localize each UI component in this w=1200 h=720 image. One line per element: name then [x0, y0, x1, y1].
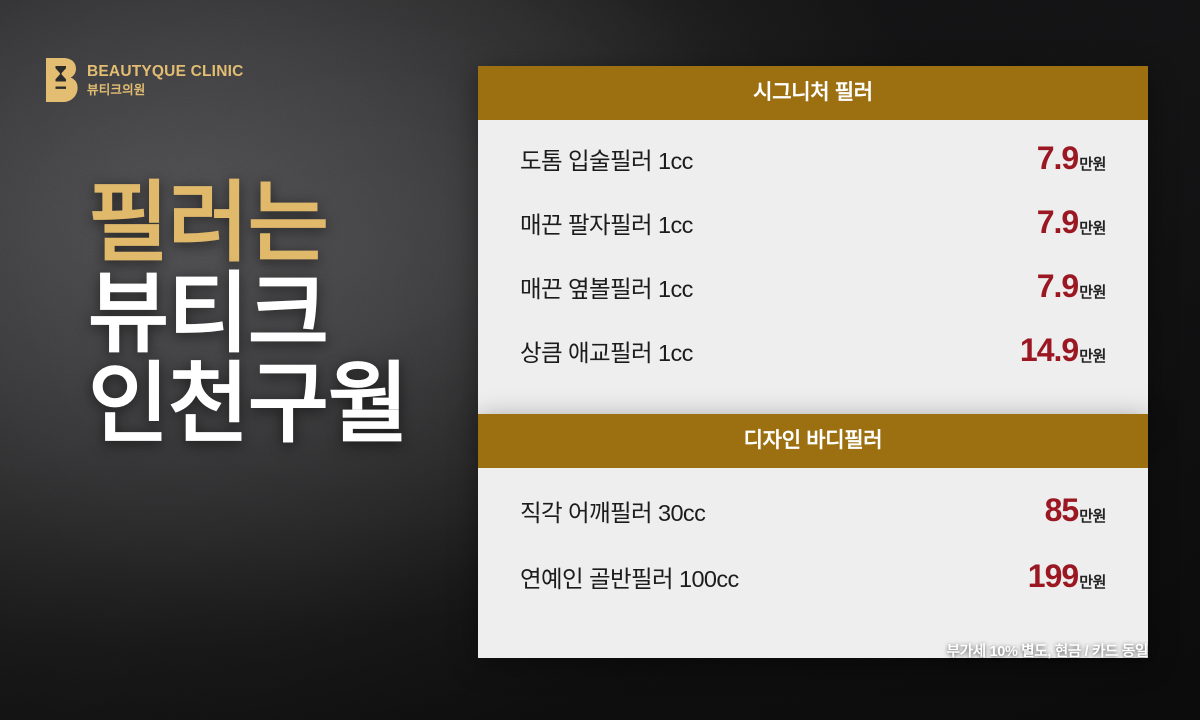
poster-canvas: BEAUTYQUE CLINIC 뷰티크의원 필러는 뷰티크 인천구월 시그니처…	[0, 0, 1200, 720]
price-row: 연예인 골반필러 100cc 199 만원	[520, 558, 1106, 624]
brand-name-en: BEAUTYQUE CLINIC	[87, 64, 243, 80]
price-amount: 7.9	[1037, 268, 1078, 305]
price-row-name: 도톰 입술필러 1cc	[520, 142, 693, 176]
price-row: 상큼 애교필러 1cc 14.9 만원	[520, 332, 1106, 396]
brand-logo: BEAUTYQUE CLINIC 뷰티크의원	[44, 57, 243, 103]
price-panel-signature: 시그니처 필러 도톰 입술필러 1cc 7.9 만원 매끈 팔자필러 1cc 7…	[478, 66, 1148, 422]
price-row-name: 매끈 팔자필러 1cc	[520, 206, 693, 240]
price-row-price: 7.9 만원	[1037, 140, 1106, 177]
price-row-price: 85 만원	[1045, 492, 1106, 529]
price-row-price: 14.9 만원	[1020, 332, 1106, 369]
price-amount: 7.9	[1037, 204, 1078, 241]
b-monogram-hourglass-icon	[44, 57, 78, 103]
price-unit: 만원	[1079, 571, 1106, 592]
price-unit: 만원	[1079, 281, 1106, 302]
price-unit: 만원	[1079, 217, 1106, 238]
price-row: 매끈 옆볼필러 1cc 7.9 만원	[520, 268, 1106, 332]
price-list-body: 직각 어깨필러 30cc 85 만원 연예인 골반필러 100cc 199 만원	[478, 468, 1148, 658]
price-row-name: 직각 어깨필러 30cc	[520, 494, 705, 528]
price-row-name: 매끈 옆볼필러 1cc	[520, 270, 693, 304]
price-row-price: 199 만원	[1028, 558, 1106, 595]
price-amount: 199	[1028, 558, 1078, 595]
price-row: 직각 어깨필러 30cc 85 만원	[520, 492, 1106, 558]
headline-line-3: 인천구월	[88, 359, 408, 450]
brand-name-ko: 뷰티크의원	[87, 84, 243, 97]
price-unit: 만원	[1079, 153, 1106, 174]
price-panel-body: 디자인 바디필러 직각 어깨필러 30cc 85 만원 연예인 골반필러 100…	[478, 414, 1148, 658]
price-unit: 만원	[1079, 345, 1106, 366]
price-row: 도톰 입술필러 1cc 7.9 만원	[520, 140, 1106, 204]
headline: 필러는 뷰티크 인천구월	[88, 178, 408, 450]
panel-title-body: 디자인 바디필러	[478, 414, 1148, 468]
price-amount: 85	[1045, 492, 1079, 529]
price-list-signature: 도톰 입술필러 1cc 7.9 만원 매끈 팔자필러 1cc 7.9 만원 매끈…	[478, 120, 1148, 422]
headline-line-1: 필러는	[88, 178, 408, 269]
price-row-price: 7.9 만원	[1037, 204, 1106, 241]
price-row-price: 7.9 만원	[1037, 268, 1106, 305]
price-row-name: 상큼 애교필러 1cc	[520, 334, 693, 368]
price-unit: 만원	[1079, 505, 1106, 526]
headline-line-2: 뷰티크	[88, 269, 408, 360]
panel-title-signature: 시그니처 필러	[478, 66, 1148, 120]
brand-logo-text: BEAUTYQUE CLINIC 뷰티크의원	[87, 64, 243, 96]
price-amount: 7.9	[1037, 140, 1078, 177]
price-amount: 14.9	[1020, 332, 1078, 369]
footnote-tax-notice: 부가세 10% 별도, 현금 / 카드 동일	[947, 640, 1148, 661]
price-row-name: 연예인 골반필러 100cc	[520, 560, 739, 594]
price-row: 매끈 팔자필러 1cc 7.9 만원	[520, 204, 1106, 268]
